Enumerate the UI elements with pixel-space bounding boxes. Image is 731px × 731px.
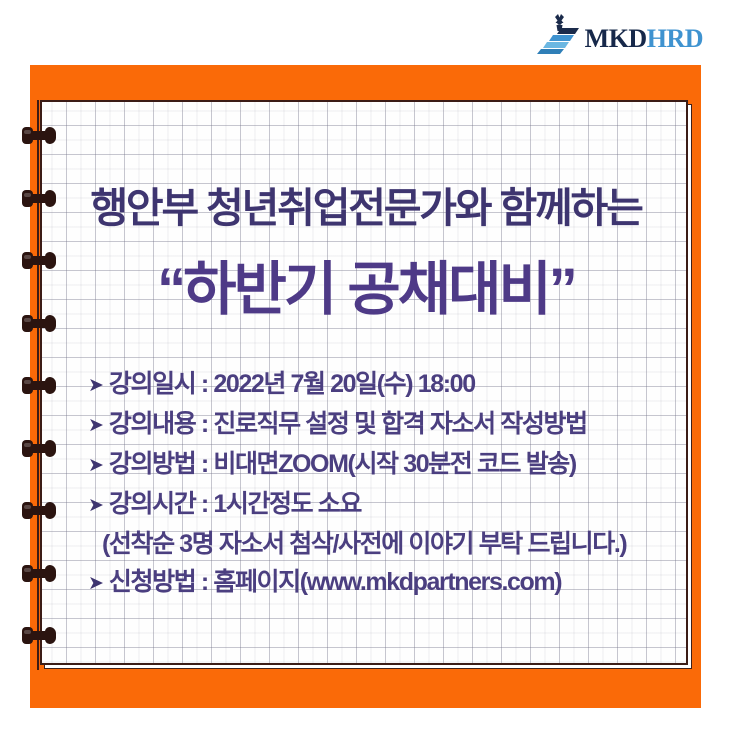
binder-ring-icon (22, 315, 56, 332)
logo-text-hrd: HRD (647, 24, 703, 53)
arrow-bullet-icon: ➤ (88, 456, 104, 475)
binder-ring-icon (22, 440, 56, 457)
poster-headline: 행안부 청년취업전문가와 함께하는 (42, 174, 688, 234)
binder-ring-icon (22, 502, 56, 519)
poster-canvas: MKDHRD 행안부 청년취업전문가와 함께하는 “하반기 공채대비” ➤ 강의… (0, 0, 731, 731)
detail-lecture-method: 강의방법 : 비대면ZOOM(시작 30분전 코드 발송) (109, 444, 576, 480)
list-item: ➤ 신청방법 : 홈페이지(www.mkdpartners.com) (88, 562, 688, 600)
list-item: ➤ 강의일시 : 2022년 7월 20일(수) 18:00 (88, 364, 688, 402)
list-item: ➤ 강의내용 : 진로직무 설정 및 합격 자소서 작성방법 (88, 404, 688, 442)
arrow-bullet-icon: ➤ (88, 376, 104, 395)
person-with-steps-icon (537, 14, 583, 54)
arrow-bullet-icon: ➤ (88, 574, 104, 593)
detail-lecture-duration: 강의시간 : 1시간정도 소요 (109, 484, 361, 520)
mkd-hrd-logo: MKDHRD (537, 14, 703, 54)
detail-application-method: 신청방법 : 홈페이지(www.mkdpartners.com) (109, 562, 561, 598)
binder-ring-icon (22, 190, 56, 207)
arrow-bullet-icon: ➤ (88, 416, 104, 435)
details-list: ➤ 강의일시 : 2022년 7월 20일(수) 18:00 ➤ 강의내용 : … (88, 364, 688, 602)
list-item: ➤ 강의시간 : 1시간정도 소요 (88, 484, 688, 522)
detail-lecture-content: 강의내용 : 진로직무 설정 및 합격 자소서 작성방법 (109, 404, 587, 440)
detail-lecture-datetime: 강의일시 : 2022년 7월 20일(수) 18:00 (109, 364, 475, 400)
binder-ring-icon (22, 127, 56, 144)
poster-subheadline: “하반기 공채대비” (42, 242, 688, 326)
poster-header: MKDHRD (0, 0, 731, 65)
binder-ring-icon (22, 565, 56, 582)
grid-notepad-page: 행안부 청년취업전문가와 함께하는 “하반기 공채대비” ➤ 강의일시 : 20… (40, 100, 688, 665)
logo-wordmark: MKDHRD (585, 26, 703, 54)
binder-ring-icon (22, 627, 56, 644)
logo-text-mkd: MKD (585, 24, 647, 53)
binder-ring-icon (22, 377, 56, 394)
list-item: ➤ 강의방법 : 비대면ZOOM(시작 30분전 코드 발송) (88, 444, 688, 482)
detail-note: (선착순 3명 자소서 첨삭/사전에 이야기 부탁 드립니다.) (88, 524, 688, 562)
arrow-bullet-icon: ➤ (88, 496, 104, 515)
binder-ring-icon (22, 252, 56, 269)
